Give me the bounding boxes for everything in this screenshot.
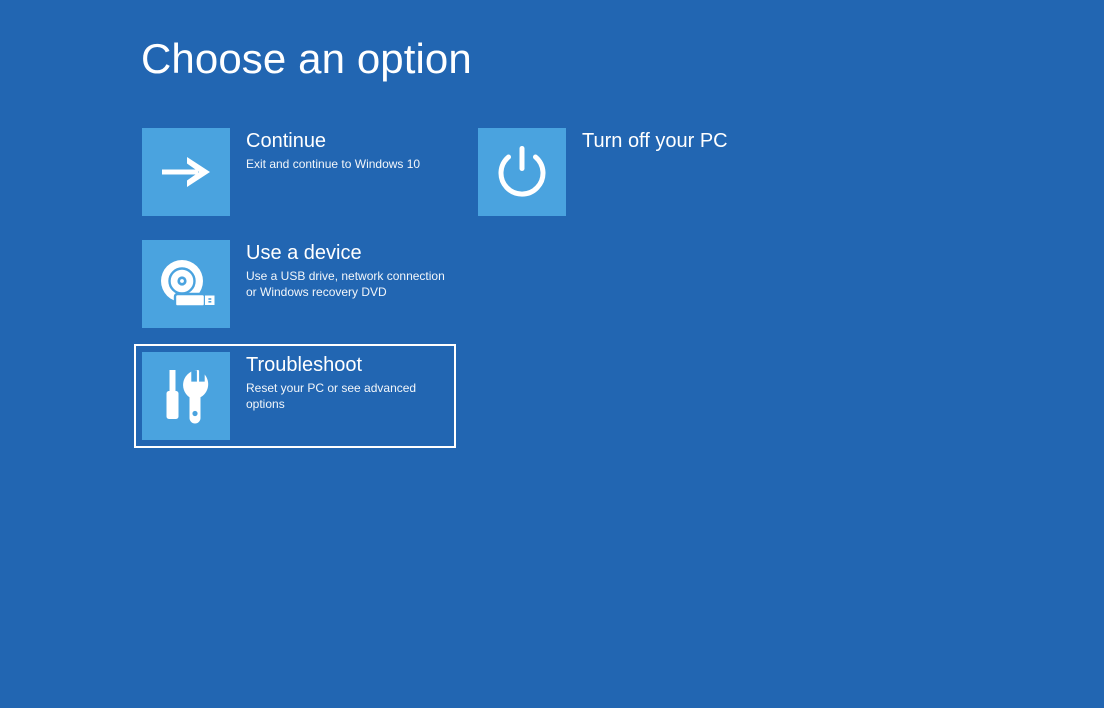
arrow-right-icon	[142, 128, 230, 216]
disc-usb-device-icon	[142, 240, 230, 328]
option-icon-tile	[142, 352, 230, 440]
option-text: Turn off your PC	[566, 128, 728, 156]
option-subtitle: Use a USB drive, network connection or W…	[246, 268, 448, 300]
option-icon-tile	[142, 128, 230, 216]
option-use-a-device[interactable]: Use a device Use a USB drive, network co…	[134, 232, 456, 336]
option-text: Continue Exit and continue to Windows 10	[230, 128, 420, 172]
option-turn-off-your-pc[interactable]: Turn off your PC	[470, 120, 792, 224]
option-troubleshoot[interactable]: Troubleshoot Reset your PC or see advanc…	[134, 344, 456, 448]
option-title: Turn off your PC	[582, 129, 728, 153]
option-text: Troubleshoot Reset your PC or see advanc…	[230, 352, 448, 412]
option-title: Troubleshoot	[246, 353, 448, 377]
option-icon-tile	[478, 128, 566, 216]
option-subtitle: Exit and continue to Windows 10	[246, 156, 420, 172]
option-title: Use a device	[246, 241, 448, 265]
options-list: Continue Exit and continue to Windows 10	[0, 0, 1104, 708]
option-icon-tile	[142, 240, 230, 328]
option-continue[interactable]: Continue Exit and continue to Windows 10	[134, 120, 456, 224]
option-text: Use a device Use a USB drive, network co…	[230, 240, 448, 300]
recovery-screen: Choose an option Continue Exit and conti…	[0, 0, 1104, 708]
option-subtitle: Reset your PC or see advanced options	[246, 380, 448, 412]
screwdriver-wrench-icon	[142, 352, 230, 440]
power-icon	[478, 128, 566, 216]
option-title: Continue	[246, 129, 420, 153]
